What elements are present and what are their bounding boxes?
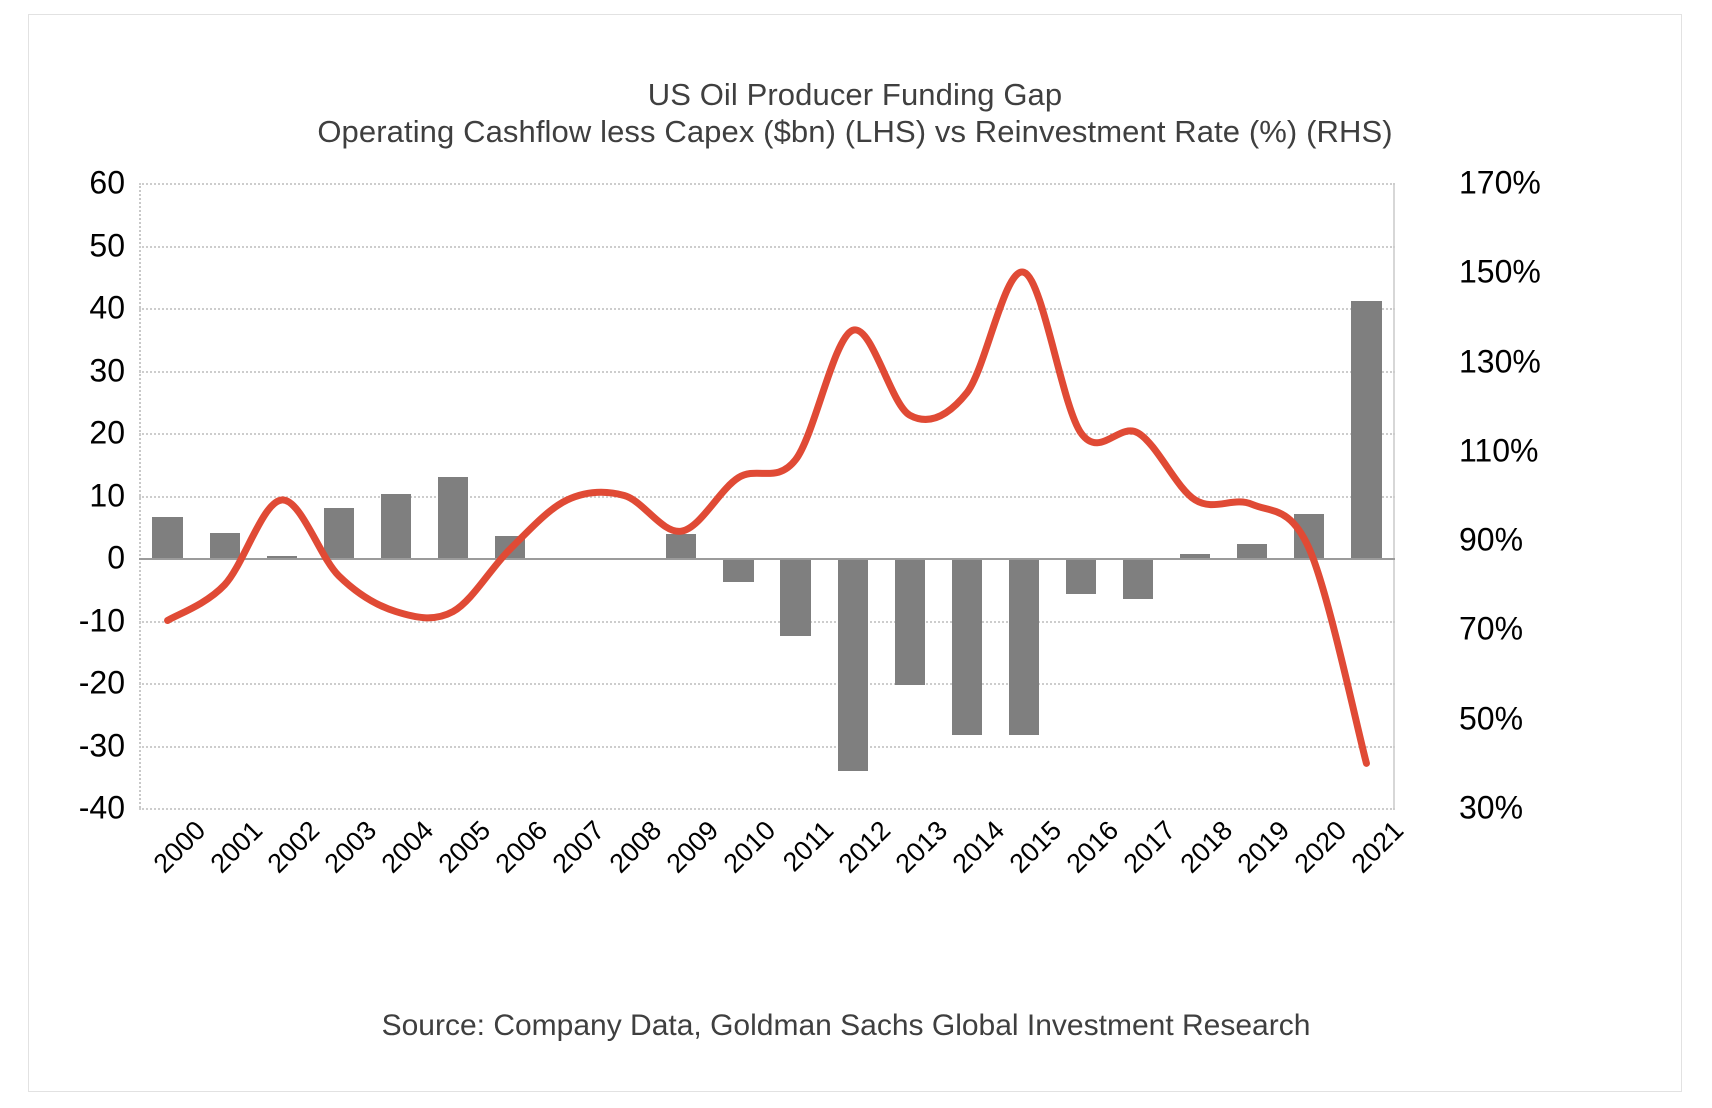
x-tick-2009: 2009 xyxy=(661,815,725,879)
x-axis-labels: 2000200120022003200420052006200720082009… xyxy=(139,815,1395,935)
x-tick-2014: 2014 xyxy=(946,815,1010,879)
x-tick-2002: 2002 xyxy=(261,815,325,879)
right-tick-70: 70% xyxy=(1459,611,1523,648)
right-tick-110: 110% xyxy=(1459,432,1538,469)
x-tick-2003: 2003 xyxy=(318,815,382,879)
left-tick-20: 20 xyxy=(89,415,125,452)
chart-subtitle: Operating Cashflow less Capex ($bn) (LHS… xyxy=(29,114,1681,151)
right-axis-labels: 170%150%130%110%90%70%50%30% xyxy=(1459,183,1599,808)
left-tick--30: -30 xyxy=(79,727,125,764)
x-tick-2006: 2006 xyxy=(490,815,554,879)
x-tick-2010: 2010 xyxy=(718,815,782,879)
chart-title-block: US Oil Producer Funding Gap Operating Ca… xyxy=(29,77,1681,150)
right-tick-150: 150% xyxy=(1459,254,1541,291)
left-tick-0: 0 xyxy=(107,540,125,577)
x-tick-2005: 2005 xyxy=(433,815,497,879)
left-tick--10: -10 xyxy=(79,602,125,639)
right-tick-50: 50% xyxy=(1459,700,1523,737)
right-tick-30: 30% xyxy=(1459,790,1523,827)
gridline xyxy=(139,808,1395,810)
left-tick-60: 60 xyxy=(89,165,125,202)
x-tick-2012: 2012 xyxy=(832,815,896,879)
x-tick-2021: 2021 xyxy=(1346,815,1410,879)
x-tick-2004: 2004 xyxy=(376,815,440,879)
left-tick-50: 50 xyxy=(89,227,125,264)
left-axis-labels: 6050403020100-10-20-30-40 xyxy=(29,183,125,808)
right-tick-130: 130% xyxy=(1459,343,1541,380)
left-tick--40: -40 xyxy=(79,790,125,827)
plot-area xyxy=(139,183,1395,808)
x-tick-2013: 2013 xyxy=(889,815,953,879)
x-tick-2000: 2000 xyxy=(147,815,211,879)
source-note: Source: Company Data, Goldman Sachs Glob… xyxy=(29,1009,1681,1043)
chart-frame: US Oil Producer Funding Gap Operating Ca… xyxy=(28,14,1682,1092)
right-tick-170: 170% xyxy=(1459,165,1541,202)
chart-title: US Oil Producer Funding Gap xyxy=(29,77,1681,114)
left-tick-30: 30 xyxy=(89,352,125,389)
left-tick-10: 10 xyxy=(89,477,125,514)
x-tick-2017: 2017 xyxy=(1118,815,1182,879)
x-tick-2007: 2007 xyxy=(547,815,611,879)
x-tick-2016: 2016 xyxy=(1061,815,1125,879)
x-tick-2001: 2001 xyxy=(204,815,268,879)
x-tick-2019: 2019 xyxy=(1232,815,1296,879)
x-tick-2011: 2011 xyxy=(777,815,840,878)
reinvestment-rate-line xyxy=(139,183,1395,808)
line-path xyxy=(168,272,1367,763)
x-tick-2015: 2015 xyxy=(1004,815,1068,879)
left-tick-40: 40 xyxy=(89,290,125,327)
left-tick--20: -20 xyxy=(79,665,125,702)
x-tick-2020: 2020 xyxy=(1289,815,1353,879)
x-tick-2018: 2018 xyxy=(1175,815,1239,879)
x-tick-2008: 2008 xyxy=(604,815,668,879)
right-tick-90: 90% xyxy=(1459,522,1523,559)
